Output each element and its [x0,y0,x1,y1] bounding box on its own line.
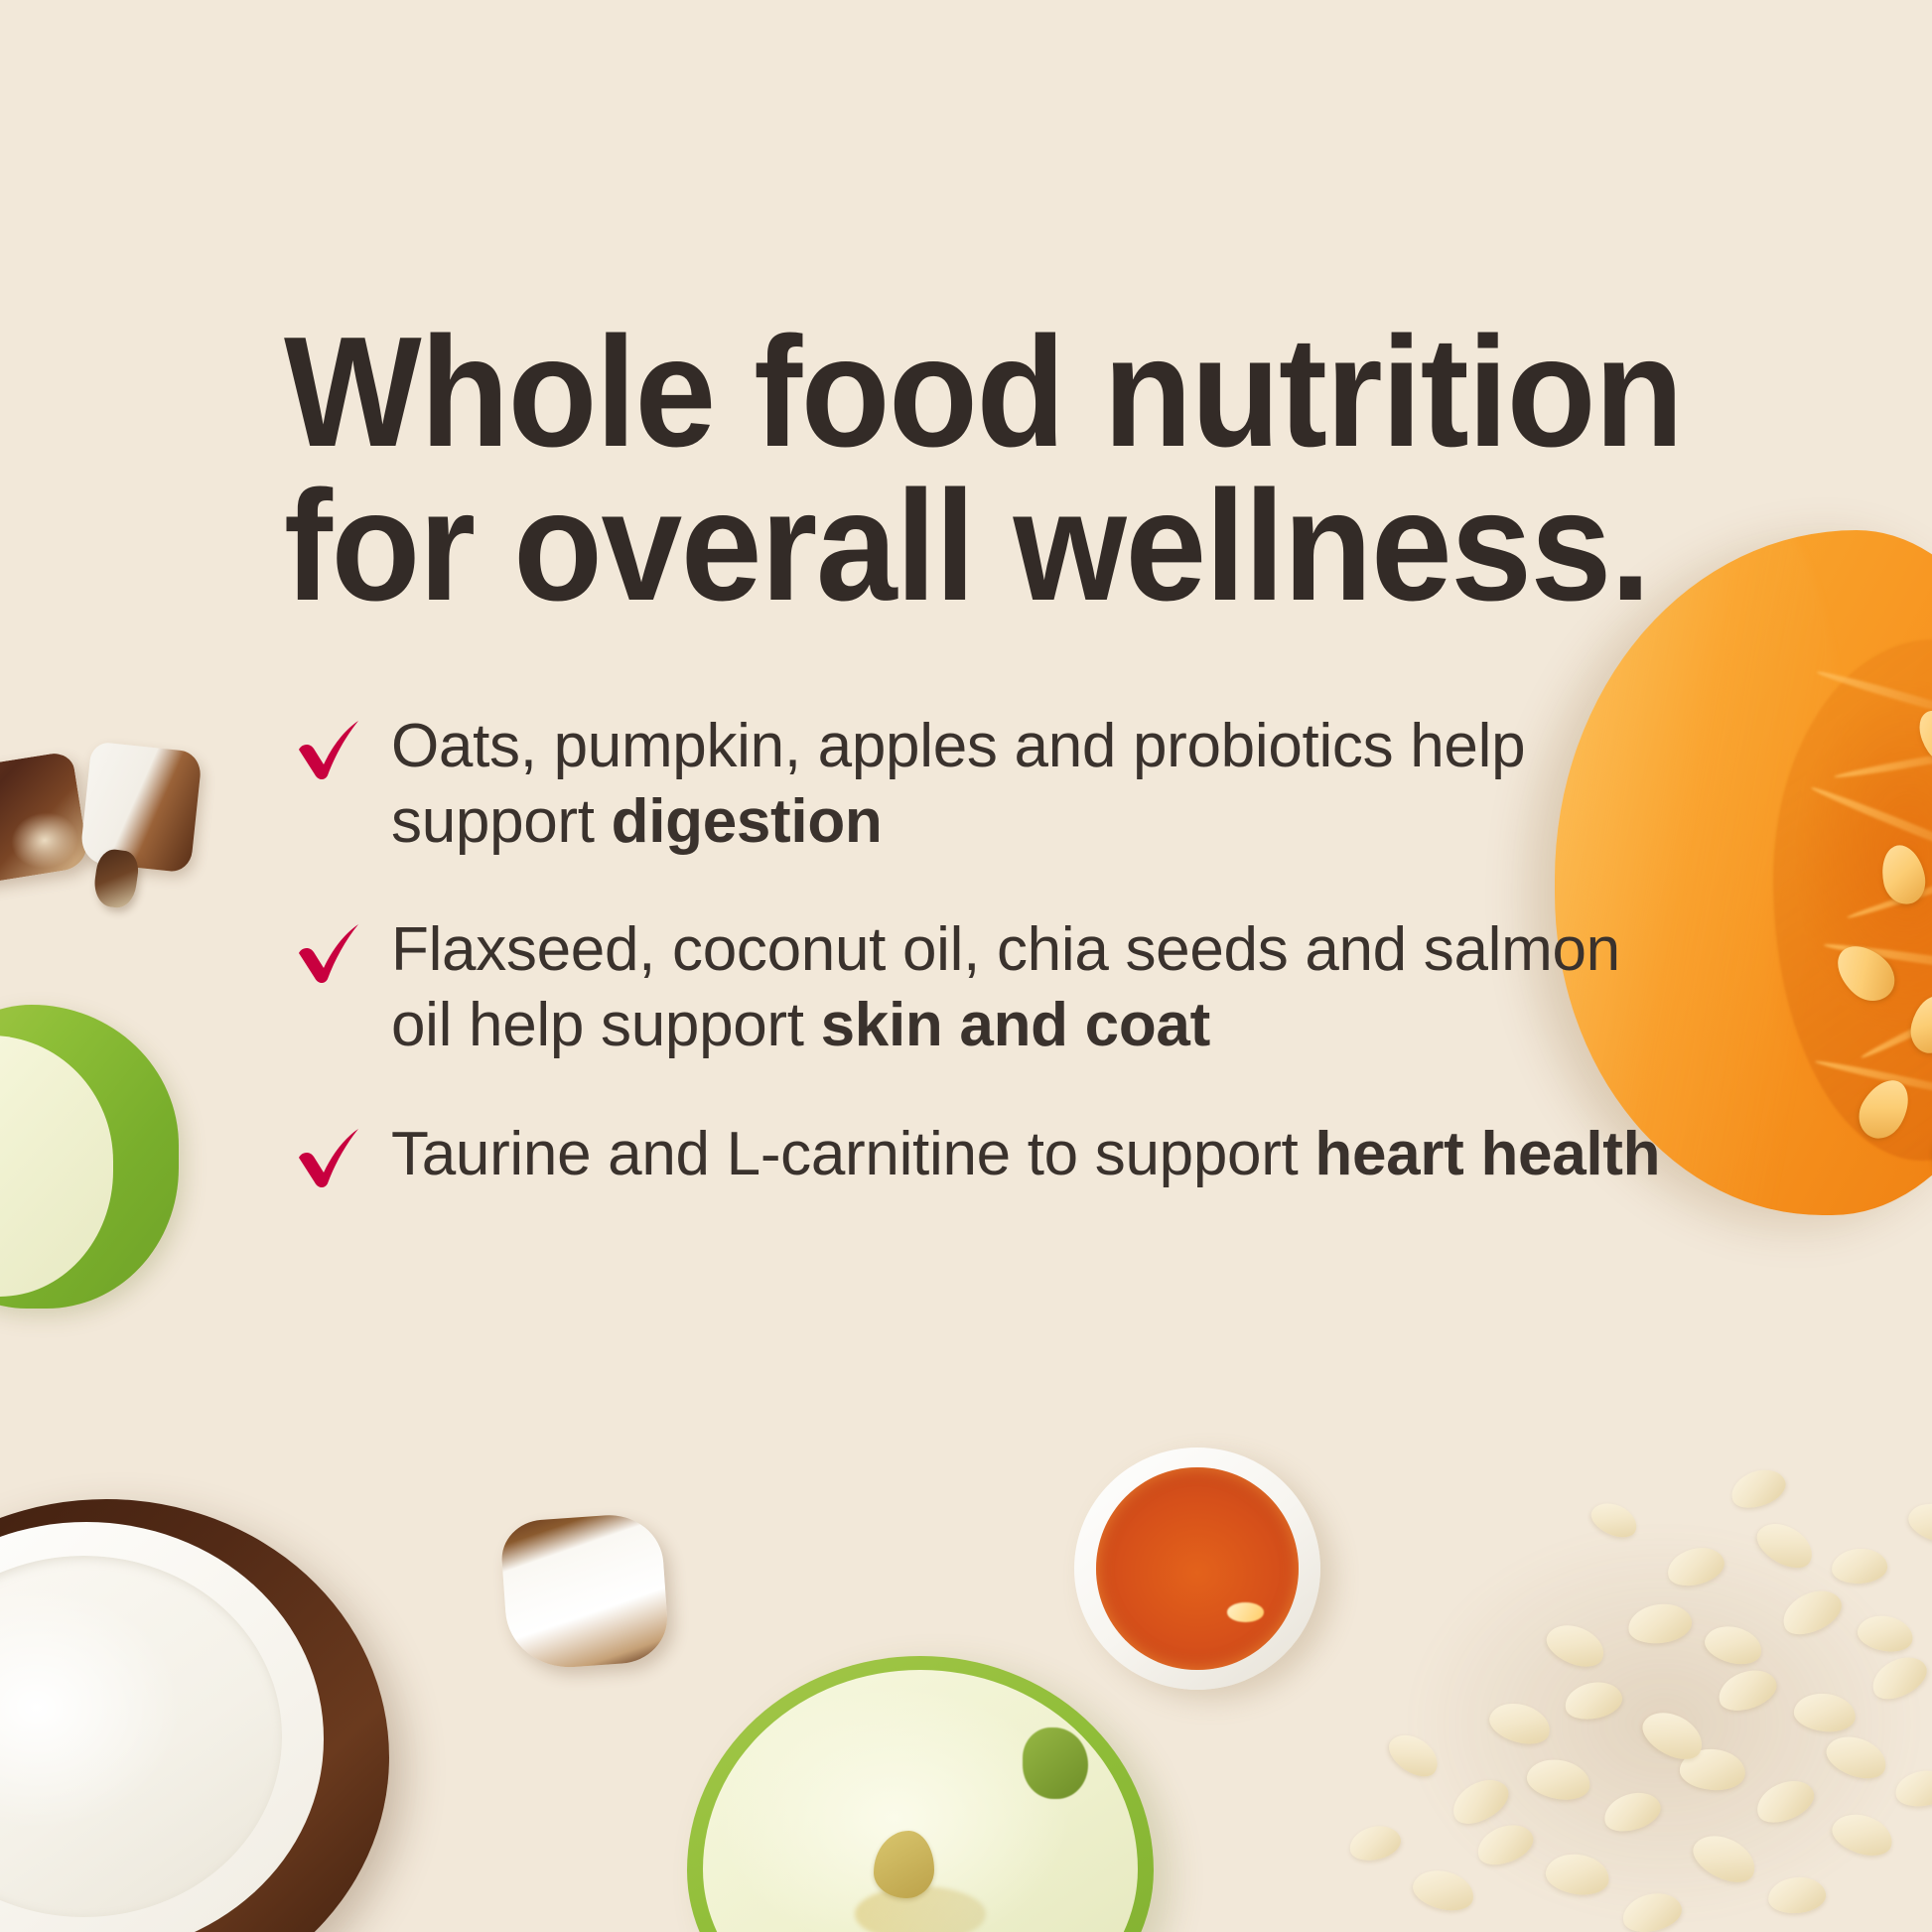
list-item-text-regular: Oats, pumpkin, apples and probiotics hel… [391,712,1525,856]
check-icon [292,1125,365,1198]
headline-line-2: for overall wellness. [284,470,1577,623]
check-icon [292,717,365,790]
benefits-list: Oats, pumpkin, apples and probiotics hel… [284,709,1694,1191]
apple-half-image [687,1656,1154,1932]
list-item: Taurine and L-carnitine to support heart… [284,1117,1694,1192]
list-item-text-emphasis: digestion [612,787,883,856]
coconut-chunk-image [499,1512,670,1672]
coconut-half-image [0,1499,389,1932]
list-item-text-emphasis: skin and coat [821,991,1210,1059]
list-item-text: Taurine and L-carnitine to support heart… [391,1117,1694,1192]
headline-line-1: Whole food nutrition [284,316,1577,470]
promo-canvas: Whole food nutrition for overall wellnes… [0,0,1932,1932]
list-item: Oats, pumpkin, apples and probiotics hel… [284,709,1694,859]
rolled-oats-image [1336,1416,1932,1932]
salmon-oil-bowl-image [1074,1448,1320,1690]
list-item-text: Oats, pumpkin, apples and probiotics hel… [391,709,1694,859]
list-item-text: Flaxseed, coconut oil, chia seeds and sa… [391,912,1694,1062]
list-item-text-emphasis: heart health [1314,1120,1660,1188]
coconut-bit-image [91,847,141,909]
check-icon [292,920,365,994]
list-item: Flaxseed, coconut oil, chia seeds and sa… [284,912,1694,1062]
coconut-chunk-image [0,751,89,888]
list-item-text-regular: Taurine and L-carnitine to support [391,1120,1314,1188]
apple-slice-image [0,1005,179,1309]
page-title: Whole food nutrition for overall wellnes… [284,316,1577,623]
